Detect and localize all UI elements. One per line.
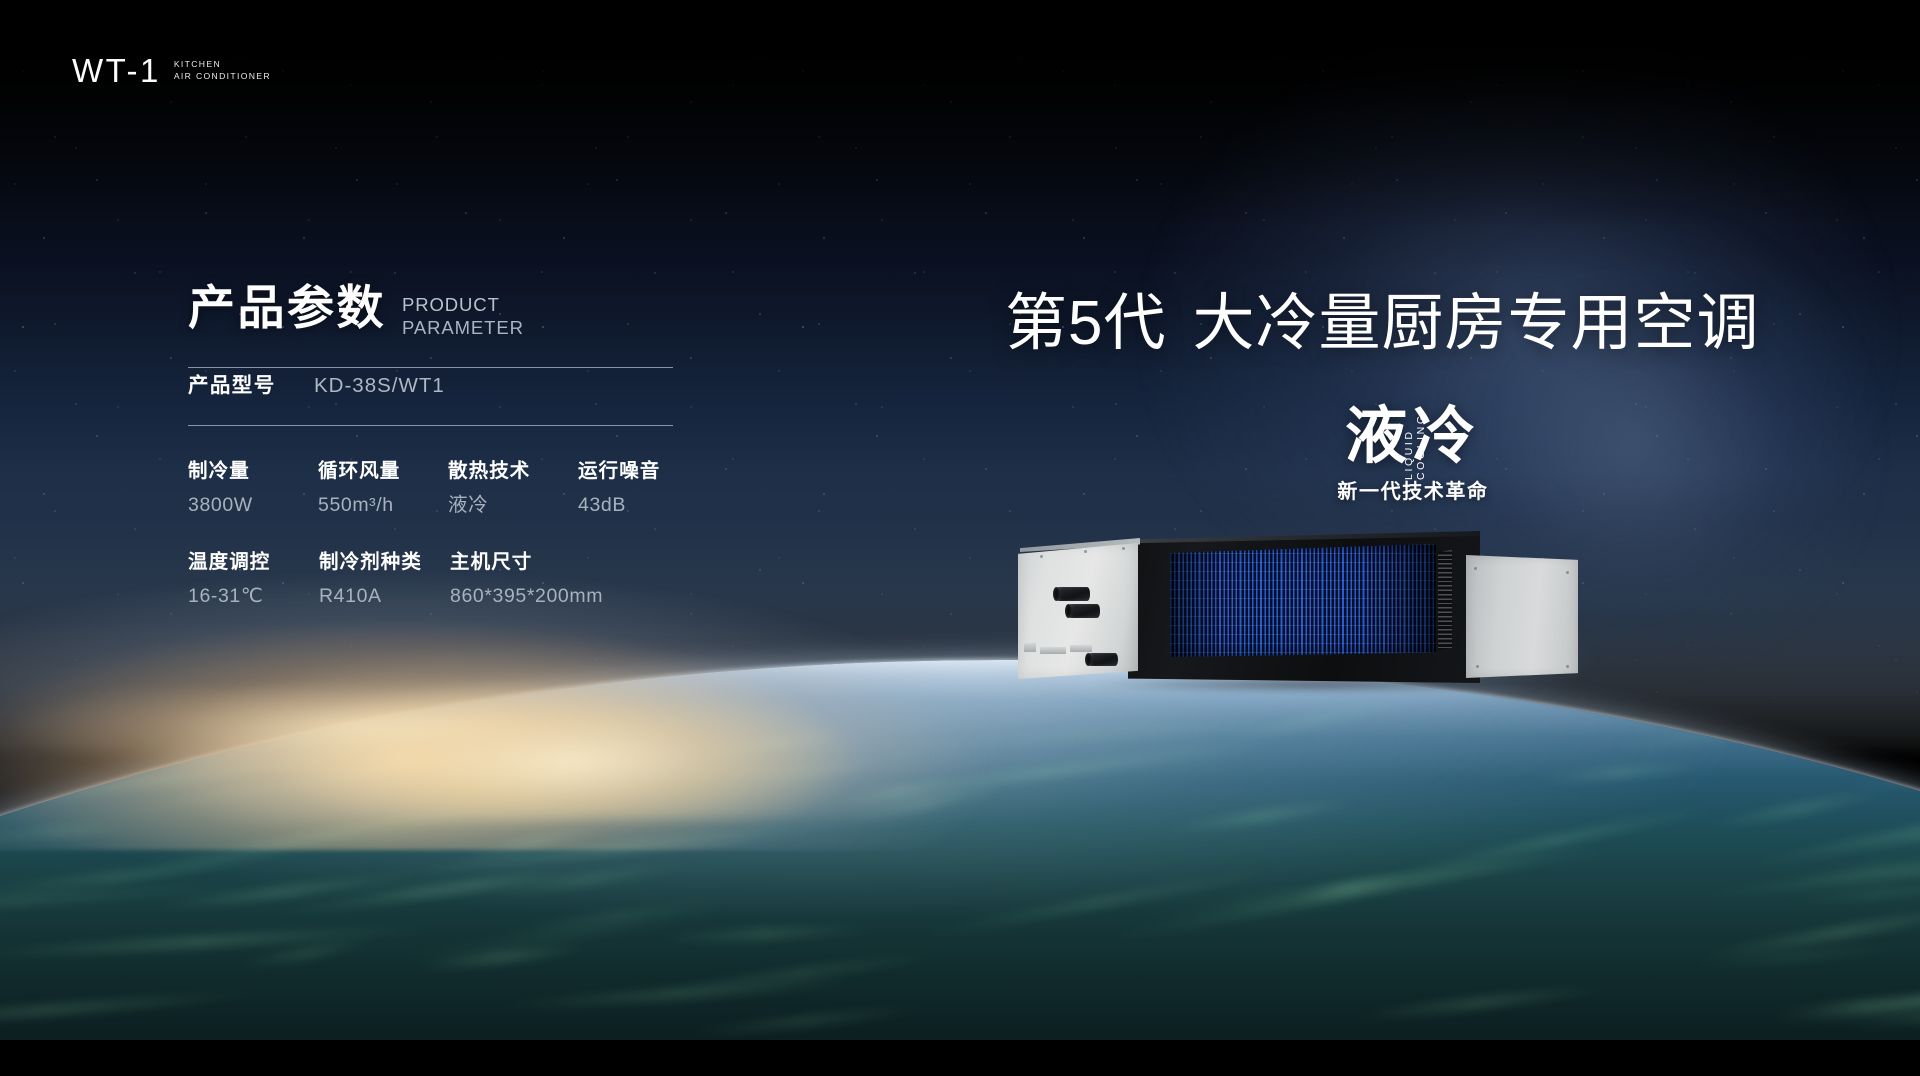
hero-headline: 第5代大冷量厨房专用空调 (1005, 293, 1760, 355)
headline-main: 大冷量厨房专用空调 (1193, 290, 1760, 358)
poster-canvas: WT-1 KITCHEN AIR CONDITIONER 产品参数 PRODUC… (0, 0, 1920, 1076)
liquid-cooling-badge: 液冷 LIQUID COOLING 新一代技术革命 (1298, 406, 1528, 504)
spec-cell-label: 主机尺寸 (450, 548, 630, 577)
spec-title-en-line1: PRODUCT (402, 293, 524, 316)
spec-cell: 制冷剂种类 R410A (319, 548, 450, 611)
screw-icon (1122, 547, 1125, 550)
brand-logo-subtitle: KITCHEN AIR CONDITIONER (174, 58, 271, 85)
spec-cell-value: 液冷 (448, 490, 578, 520)
unit-mounting-rail-2 (1070, 645, 1092, 652)
spec-cell-label: 循环风量 (318, 457, 448, 486)
spec-grid-row: 制冷量 3800W 循环风量 550m³/h 散热技术 液冷 运行噪音 43dB (188, 457, 708, 520)
headline-suffix: 代 (1104, 290, 1167, 358)
product-image (1018, 525, 1618, 685)
spec-cell-value: 550m³/h (318, 490, 448, 520)
spec-cell: 制冷量 3800W (188, 457, 318, 520)
unit-coil-shading (1170, 544, 1436, 657)
unit-pipe-port-upper (1056, 587, 1090, 601)
model-label: 产品型号 (188, 368, 314, 398)
brand-logo-mark: WT-1 (72, 54, 161, 87)
screw-icon (1566, 571, 1569, 574)
brand-logo-sub-line1: KITCHEN (174, 58, 271, 70)
headline-prefix: 第 (1005, 290, 1068, 358)
spec-cell: 主机尺寸 860*395*200mm (450, 548, 630, 611)
unit-pipe-port-lower (1068, 604, 1100, 618)
spec-cell-value: R410A (319, 581, 450, 611)
spec-cell-value: 43dB (578, 490, 708, 520)
spec-cell-label: 制冷剂种类 (319, 548, 450, 577)
spec-cell-value: 3800W (188, 490, 318, 520)
spec-cell: 循环风量 550m³/h (318, 457, 448, 520)
spec-grid-row: 温度调控 16-31℃ 制冷剂种类 R410A 主机尺寸 860*395*200… (188, 548, 708, 611)
screw-icon (1474, 567, 1477, 570)
spec-cell-label: 制冷量 (188, 457, 318, 486)
unit-mounting-bracket-left (1024, 643, 1036, 652)
screw-icon (1566, 665, 1569, 668)
spec-grid: 制冷量 3800W 循环风量 550m³/h 散热技术 液冷 运行噪音 43dB (188, 457, 708, 612)
spec-cell: 温度调控 16-31℃ (188, 548, 319, 611)
letterbox-bottom (0, 1040, 1920, 1076)
headline-number: 5 (1068, 289, 1103, 358)
spec-cell-label: 温度调控 (188, 548, 319, 577)
divider-bottom (188, 425, 673, 426)
screw-icon (1040, 555, 1043, 558)
screw-icon (1476, 665, 1479, 668)
unit-right-endcap (1466, 555, 1578, 678)
unit-side-vent (1438, 550, 1452, 650)
screw-icon (1084, 550, 1087, 553)
product-unit (1018, 525, 1618, 685)
letterbox-top (0, 0, 1920, 44)
spec-row-model: 产品型号 KD-38S/WT1 (188, 368, 708, 425)
cloud-streak (1869, 671, 1920, 720)
spec-cell-label: 运行噪音 (578, 457, 708, 486)
spec-panel: 产品参数 PRODUCT PARAMETER 产品型号 KD-38S/WT1 制… (188, 284, 708, 640)
spec-title-cn: 产品参数 (188, 284, 386, 331)
liquid-cooling-en: LIQUID COOLING (1403, 408, 1427, 480)
spec-title-en-line2: PARAMETER (402, 316, 524, 339)
liquid-cooling-main: 液冷 LIQUID COOLING (1298, 406, 1528, 468)
unit-pipe-port-bottom (1088, 653, 1118, 666)
model-value: KD-38S/WT1 (314, 374, 445, 398)
spec-cell: 散热技术 液冷 (448, 457, 578, 520)
spec-panel-header: 产品参数 PRODUCT PARAMETER (188, 284, 708, 340)
spec-cell-label: 散热技术 (448, 457, 578, 486)
spec-cell-value: 16-31℃ (188, 581, 319, 611)
brand-logo: WT-1 KITCHEN AIR CONDITIONER (72, 52, 271, 85)
spec-cell: 运行噪音 43dB (578, 457, 708, 520)
spec-title-en: PRODUCT PARAMETER (402, 284, 524, 340)
brand-logo-sub-line2: AIR CONDITIONER (174, 70, 271, 82)
unit-mounting-rail (1040, 647, 1066, 654)
spec-cell-value: 860*395*200mm (450, 581, 630, 611)
